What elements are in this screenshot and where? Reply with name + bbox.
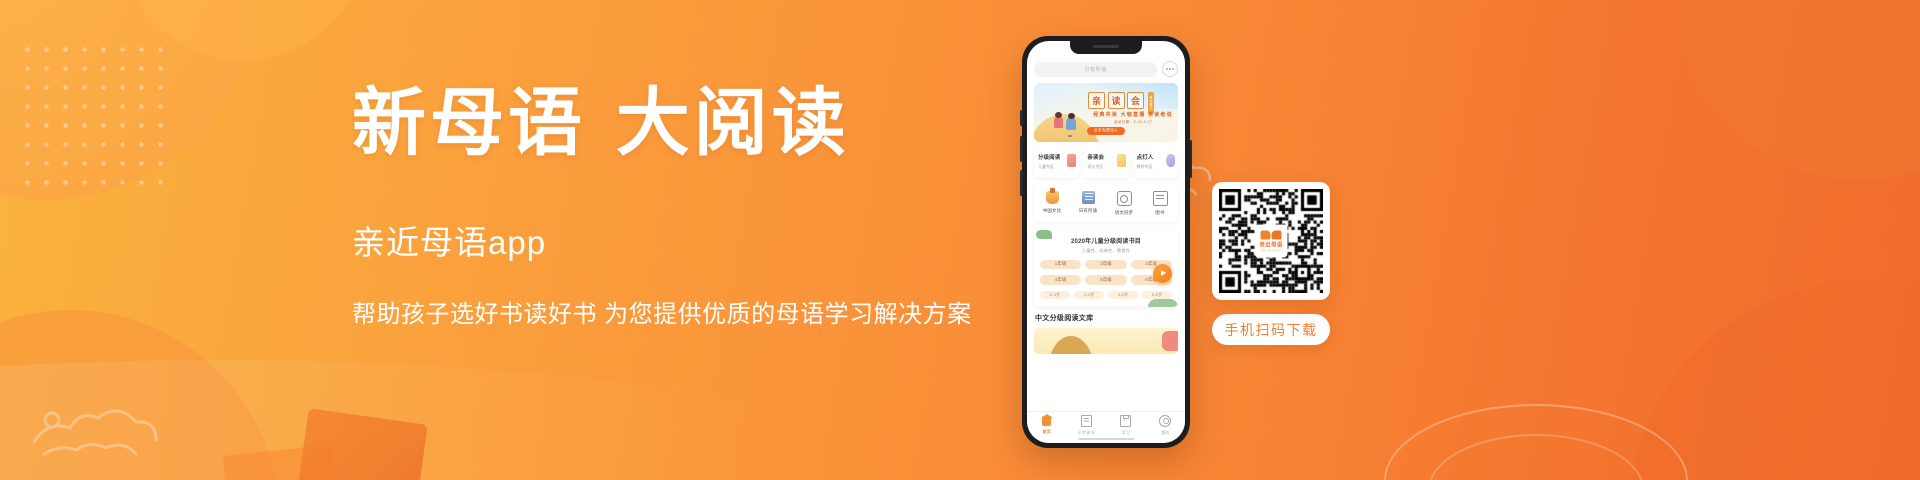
book-icon: [1153, 191, 1168, 206]
promo-banner: 新母语 大阅读 亲近母语app 帮助孩子选好书读好书 为您提供优质的母语学习解决…: [0, 0, 1920, 480]
age-chip[interactable]: 5-6岁: [1142, 291, 1172, 300]
tab-profile[interactable]: 我的: [1146, 415, 1186, 436]
book-icon: [1081, 415, 1092, 427]
age-chip-row: 0-3岁 3-4岁 4-5岁 5-6岁: [1040, 291, 1172, 300]
recite-icon: [1082, 191, 1095, 204]
search-input[interactable]: 日有所诵: [1034, 62, 1157, 77]
bookmark-icon: [1067, 154, 1076, 167]
search-row: 日有所诵: [1034, 61, 1178, 77]
grade-chip-row-1: 1年级 2年级 3年级: [1040, 260, 1172, 270]
tab-home[interactable]: 首页: [1027, 416, 1067, 435]
quick-icon-sync[interactable]: 语文同步: [1106, 191, 1142, 216]
section-arc: [1048, 336, 1094, 354]
brand-mark-icon: [1260, 230, 1282, 239]
booklist-subtitle: 儿童性、经典性、教育性: [1040, 248, 1172, 254]
section-accent: [1162, 331, 1178, 351]
more-options-icon[interactable]: [1162, 61, 1178, 77]
qr-logo-sub: QINJIN MUYU: [1261, 249, 1281, 252]
phone-notch: [1070, 41, 1142, 54]
tab-reading[interactable]: 小步读书: [1067, 415, 1107, 436]
age-chip[interactable]: 0-3岁: [1040, 291, 1070, 300]
phone-mute-switch: [1020, 110, 1023, 126]
decorative-ring-inner: [1428, 434, 1644, 480]
decorative-circle-bottom-right: [1630, 280, 1920, 480]
tagline: 帮助孩子选好书读好书 为您提供优质的母语学习解决方案: [352, 294, 1012, 329]
phone-mockup: 日有所诵 亲 读 会 重磅推出 经典共读 大咖直播 亲读者说 活动日: [1022, 36, 1190, 448]
hero-title-char-1: 亲: [1088, 92, 1105, 109]
age-chip[interactable]: 3-4岁: [1074, 291, 1104, 300]
section-title: 中文分级阅读文库: [1035, 313, 1178, 323]
phone-speaker: [1093, 45, 1119, 48]
qr-center-logo: 亲近母语 QINJIN MUYU: [1255, 225, 1288, 258]
culture-icon: [1046, 191, 1059, 204]
headline-block: 新母语 大阅读 亲近母语app 帮助孩子选好书读好书 为您提供优质的母语学习解决…: [352, 86, 1012, 329]
quick-icon-label: 图书: [1155, 210, 1164, 216]
hero-title-char-2: 读: [1108, 92, 1125, 109]
hero-date: 活动日期：9.16-9.27: [1086, 120, 1178, 125]
decorative-circle-top-left-2: [118, 0, 368, 60]
quick-icon-books[interactable]: 图书: [1142, 191, 1178, 216]
carousel-dots[interactable]: [1064, 135, 1080, 137]
grade-chip[interactable]: 4年级: [1040, 275, 1081, 285]
category-cards: 分级阅读 儿童专区 亲读会 家长专区 点灯人 教师专区: [1034, 148, 1178, 178]
page-title: 新母语 大阅读: [352, 86, 1012, 160]
age-chip[interactable]: 4-5岁: [1108, 291, 1138, 300]
phone-volume-down: [1020, 170, 1023, 196]
grade-chip[interactable]: 1年级: [1040, 260, 1081, 270]
tab-study[interactable]: 学习: [1106, 415, 1146, 436]
tab-label: 学习: [1122, 430, 1130, 436]
phone-screen: 日有所诵 亲 读 会 重磅推出 经典共读 大咖直播 亲读者说 活动日: [1027, 41, 1185, 443]
home-icon: [1042, 416, 1051, 426]
decorative-ring-outer: [1384, 404, 1688, 480]
phone-volume-up: [1020, 136, 1023, 162]
section-card[interactable]: [1034, 328, 1178, 354]
decorative-cube: [292, 408, 428, 480]
booklist-card: 2020年儿童分级阅读书目 儿童性、经典性、教育性 1年级 2年级 3年级 4年…: [1034, 228, 1178, 308]
qr-code[interactable]: 亲近母语 QINJIN MUYU: [1212, 182, 1330, 300]
cloud-ornament-icon-2: [28, 392, 178, 462]
qr-block: 亲近母语 QINJIN MUYU 手机扫码下载: [1212, 182, 1330, 345]
category-card-parent-club[interactable]: 亲读会 家长专区: [1083, 148, 1128, 178]
quick-icon-label: 中国文化: [1043, 208, 1061, 214]
leaf-ornament-icon-2: [1148, 299, 1178, 307]
leaf-ornament-icon: [1036, 230, 1052, 239]
user-icon: [1159, 415, 1171, 427]
decorative-circle-right-top: [1680, 0, 1920, 180]
grade-chip[interactable]: 5年级: [1085, 275, 1126, 285]
phone-home-indicator: [1078, 438, 1134, 441]
clipboard-icon: [1120, 415, 1131, 427]
grade-chip[interactable]: 2年级: [1085, 260, 1126, 270]
hero-join-button[interactable]: 点击免费加入: [1087, 127, 1125, 135]
decorative-cube-back: [223, 445, 344, 480]
quick-icon-label: 日有所诵: [1079, 208, 1097, 214]
decorative-circle-bottom-left: [0, 310, 280, 480]
decorative-circle-top-left: [0, 0, 260, 200]
quick-icon-culture[interactable]: 中国文化: [1034, 191, 1070, 216]
qr-logo-title: 亲近母语: [1259, 240, 1282, 248]
quick-icon-recite[interactable]: 日有所诵: [1070, 191, 1106, 216]
category-card-graded-reading[interactable]: 分级阅读 儿童专区: [1034, 148, 1079, 178]
hero-child-1: [1054, 116, 1063, 128]
play-button-icon[interactable]: [1153, 264, 1172, 283]
booklist-title: 2020年儿童分级阅读书目: [1040, 236, 1172, 245]
hero-banner[interactable]: 亲 读 会 重磅推出 经典共读 大咖直播 亲读者说 活动日期：9.16-9.27…: [1034, 83, 1178, 142]
tab-label: 我的: [1161, 430, 1169, 436]
tab-label: 首页: [1043, 429, 1051, 435]
bookmark-icon: [1117, 154, 1126, 167]
grade-chip-row-2: 4年级 5年级 6年级: [1040, 275, 1172, 285]
quick-icon-row: 中国文化 日有所诵 语文同步 图书: [1034, 184, 1178, 222]
category-card-teacher[interactable]: 点灯人 教师专区: [1133, 148, 1178, 178]
hero-child-2: [1066, 117, 1076, 130]
app-screen: 日有所诵 亲 读 会 重磅推出 经典共读 大咖直播 亲读者说 活动日: [1027, 41, 1185, 443]
app-name: 亲近母语app: [352, 216, 1012, 264]
lamp-icon: [1166, 154, 1175, 167]
hero-subtitle: 经典共读 大咖直播 亲读者说: [1086, 111, 1178, 118]
quick-icon-label: 语文同步: [1115, 210, 1133, 216]
decorative-dot-grid: [18, 40, 168, 190]
phone-power-button: [1190, 140, 1193, 178]
hero-title-char-3: 会: [1127, 92, 1144, 109]
tab-label: 小步读书: [1078, 430, 1095, 436]
decorative-wave: [0, 330, 1100, 480]
sync-icon: [1117, 191, 1132, 206]
download-button[interactable]: 手机扫码下载: [1212, 314, 1330, 345]
